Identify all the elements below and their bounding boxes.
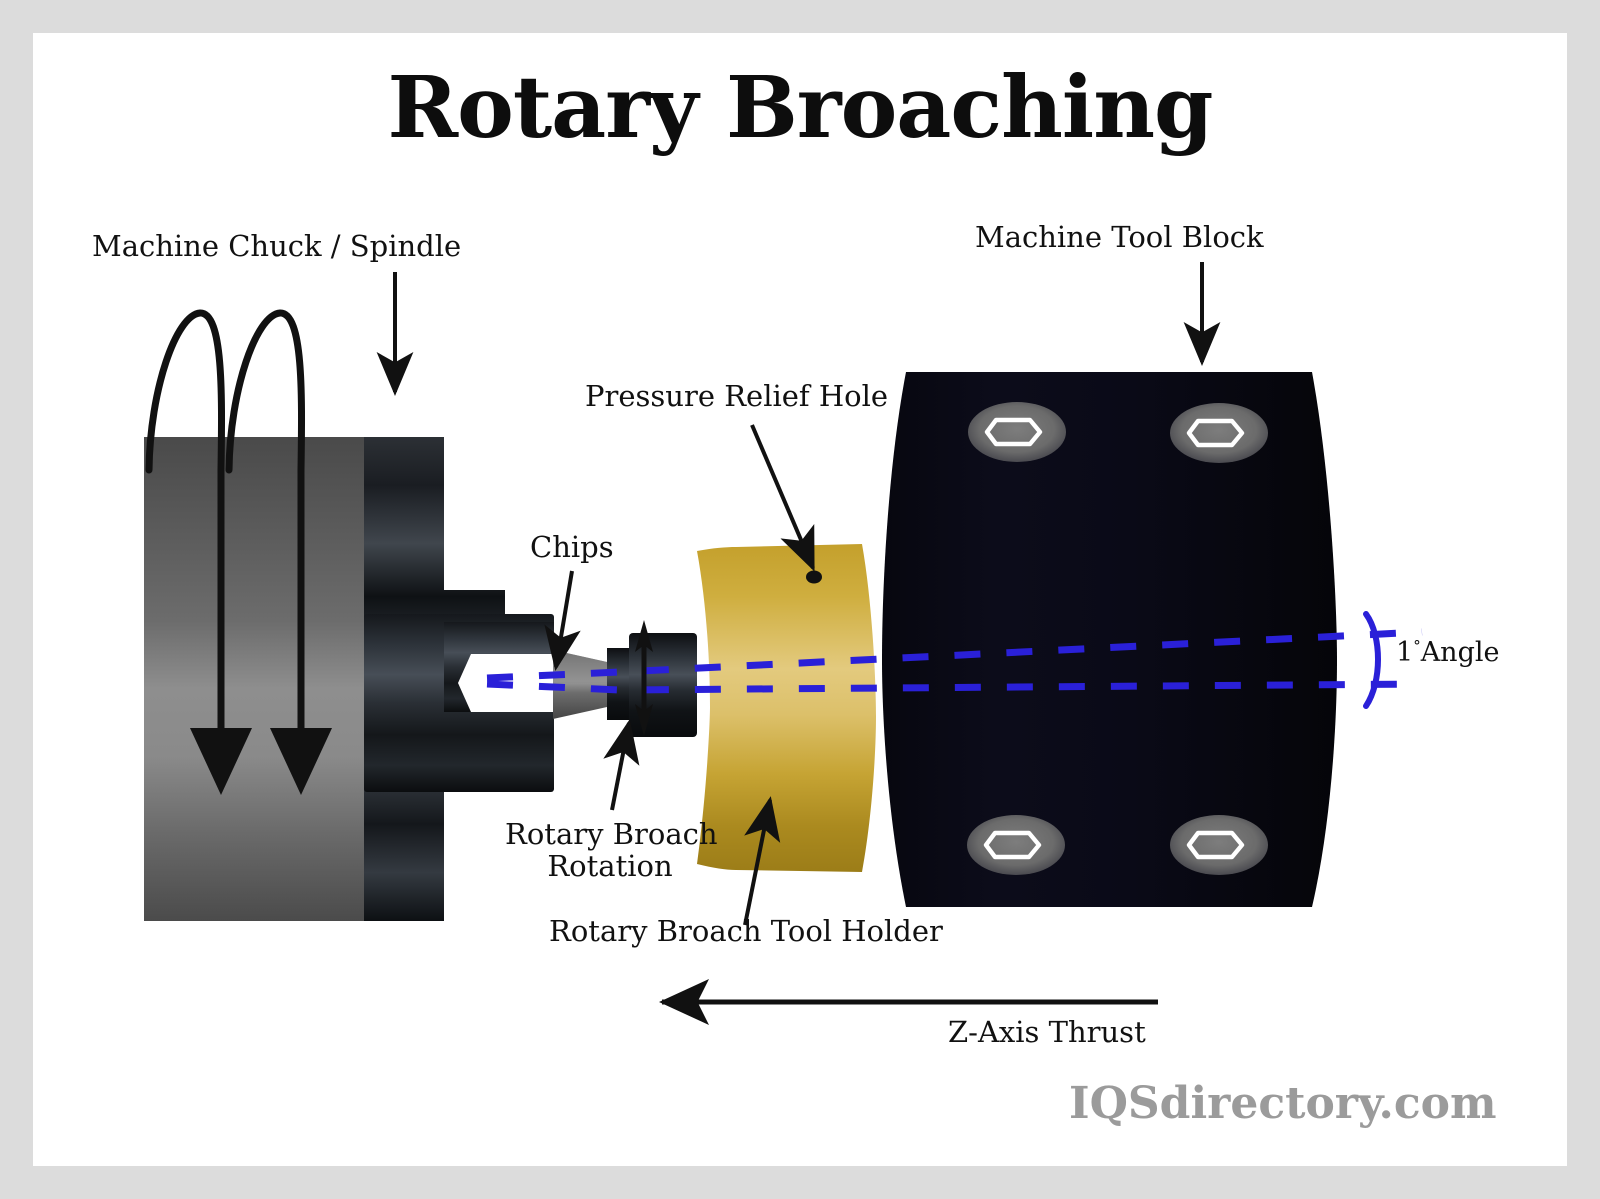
bolt-recess [968, 402, 1066, 462]
angle-value: 1 [1396, 637, 1413, 668]
angle-degree-symbol: ° [1413, 637, 1421, 655]
label-angle: 1°Angle [1396, 638, 1499, 668]
label-z-axis-thrust: Z-Axis Thrust [948, 1016, 1146, 1048]
broach-collar [607, 648, 631, 720]
page-title: Rotary Broaching [0, 58, 1600, 158]
angle-arc [1366, 614, 1378, 706]
label-rotary-broach-rotation: Rotary Broach Rotation [505, 818, 715, 883]
label-machine-tool-block: Machine Tool Block [975, 221, 1264, 253]
label-machine-chuck-spindle: Machine Chuck / Spindle [92, 230, 461, 262]
rotary-broach-tool [553, 633, 697, 737]
label-chips: Chips [530, 531, 614, 563]
watermark: IQSdirectory.com [1069, 1078, 1497, 1129]
chuck-body [144, 437, 364, 921]
label-pressure-relief-hole: Pressure Relief Hole [585, 380, 888, 412]
angle-text: Angle [1421, 637, 1500, 668]
rotation-leader-arrow [612, 723, 629, 810]
label-rotary-broach-rotation-line2: Rotation [505, 850, 715, 882]
tool-holder-body [697, 544, 876, 872]
bolt-socket-top-right [1170, 403, 1268, 463]
bolt-socket-bottom-right [1170, 815, 1268, 875]
diagram-page: Rotary Broaching Machine Chuck / Spindle… [0, 0, 1600, 1199]
bolt-recess [967, 815, 1065, 875]
label-rotary-broach-tool-holder: Rotary Broach Tool Holder [549, 915, 943, 947]
rotary-broach-tool-holder [697, 544, 876, 872]
bolt-recess [1170, 815, 1268, 875]
bolt-socket-bottom-left [967, 815, 1065, 875]
bolt-socket-top-left [968, 402, 1066, 462]
machine-chuck-assembly [144, 313, 556, 921]
label-rotary-broach-rotation-line1: Rotary Broach [505, 818, 715, 850]
diagram-illustration [0, 0, 1600, 1199]
pressure-relief-hole [806, 571, 822, 584]
bolt-recess [1170, 403, 1268, 463]
